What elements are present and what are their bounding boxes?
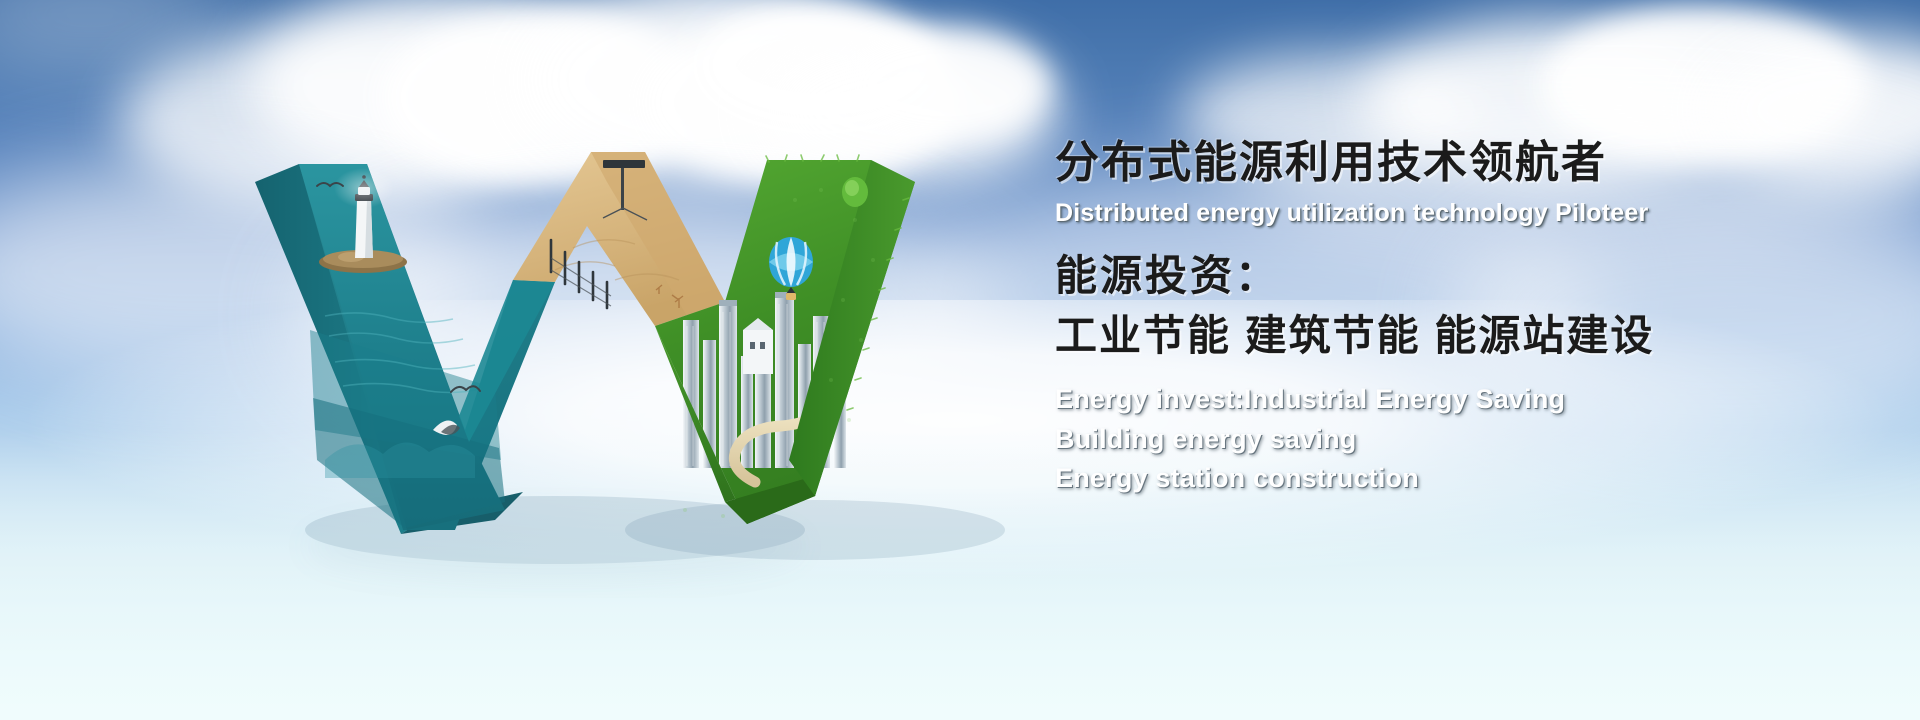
banner-service-en-3: Energy station construction <box>1055 459 1855 498</box>
banner-service-en-2: Building energy saving <box>1055 420 1855 459</box>
banner-services-cn: 工业节能 建筑节能 能源站建设 <box>1055 314 1855 358</box>
w-landscape-logo <box>255 130 1015 550</box>
logo-ground-shadow <box>625 500 1005 560</box>
banner-heading-cn: 分布式能源利用技术领航者 <box>1055 140 1855 186</box>
banner-service-en-1: Energy invest:Industrial Energy Saving <box>1055 380 1855 419</box>
banner-section-label-cn: 能源投资： <box>1055 254 1855 298</box>
logo-green-city-stroke <box>655 155 915 524</box>
banner-text-block: 分布式能源利用技术领航者 Distributed energy utilizat… <box>1055 140 1855 498</box>
tree-icon <box>842 177 868 207</box>
hero-banner: 分布式能源利用技术领航者 Distributed energy utilizat… <box>0 0 1920 720</box>
logo-ocean-stroke <box>255 164 555 534</box>
cloud-shape <box>840 30 1050 140</box>
banner-subheading-en: Distributed energy utilization technolog… <box>1055 199 1855 228</box>
